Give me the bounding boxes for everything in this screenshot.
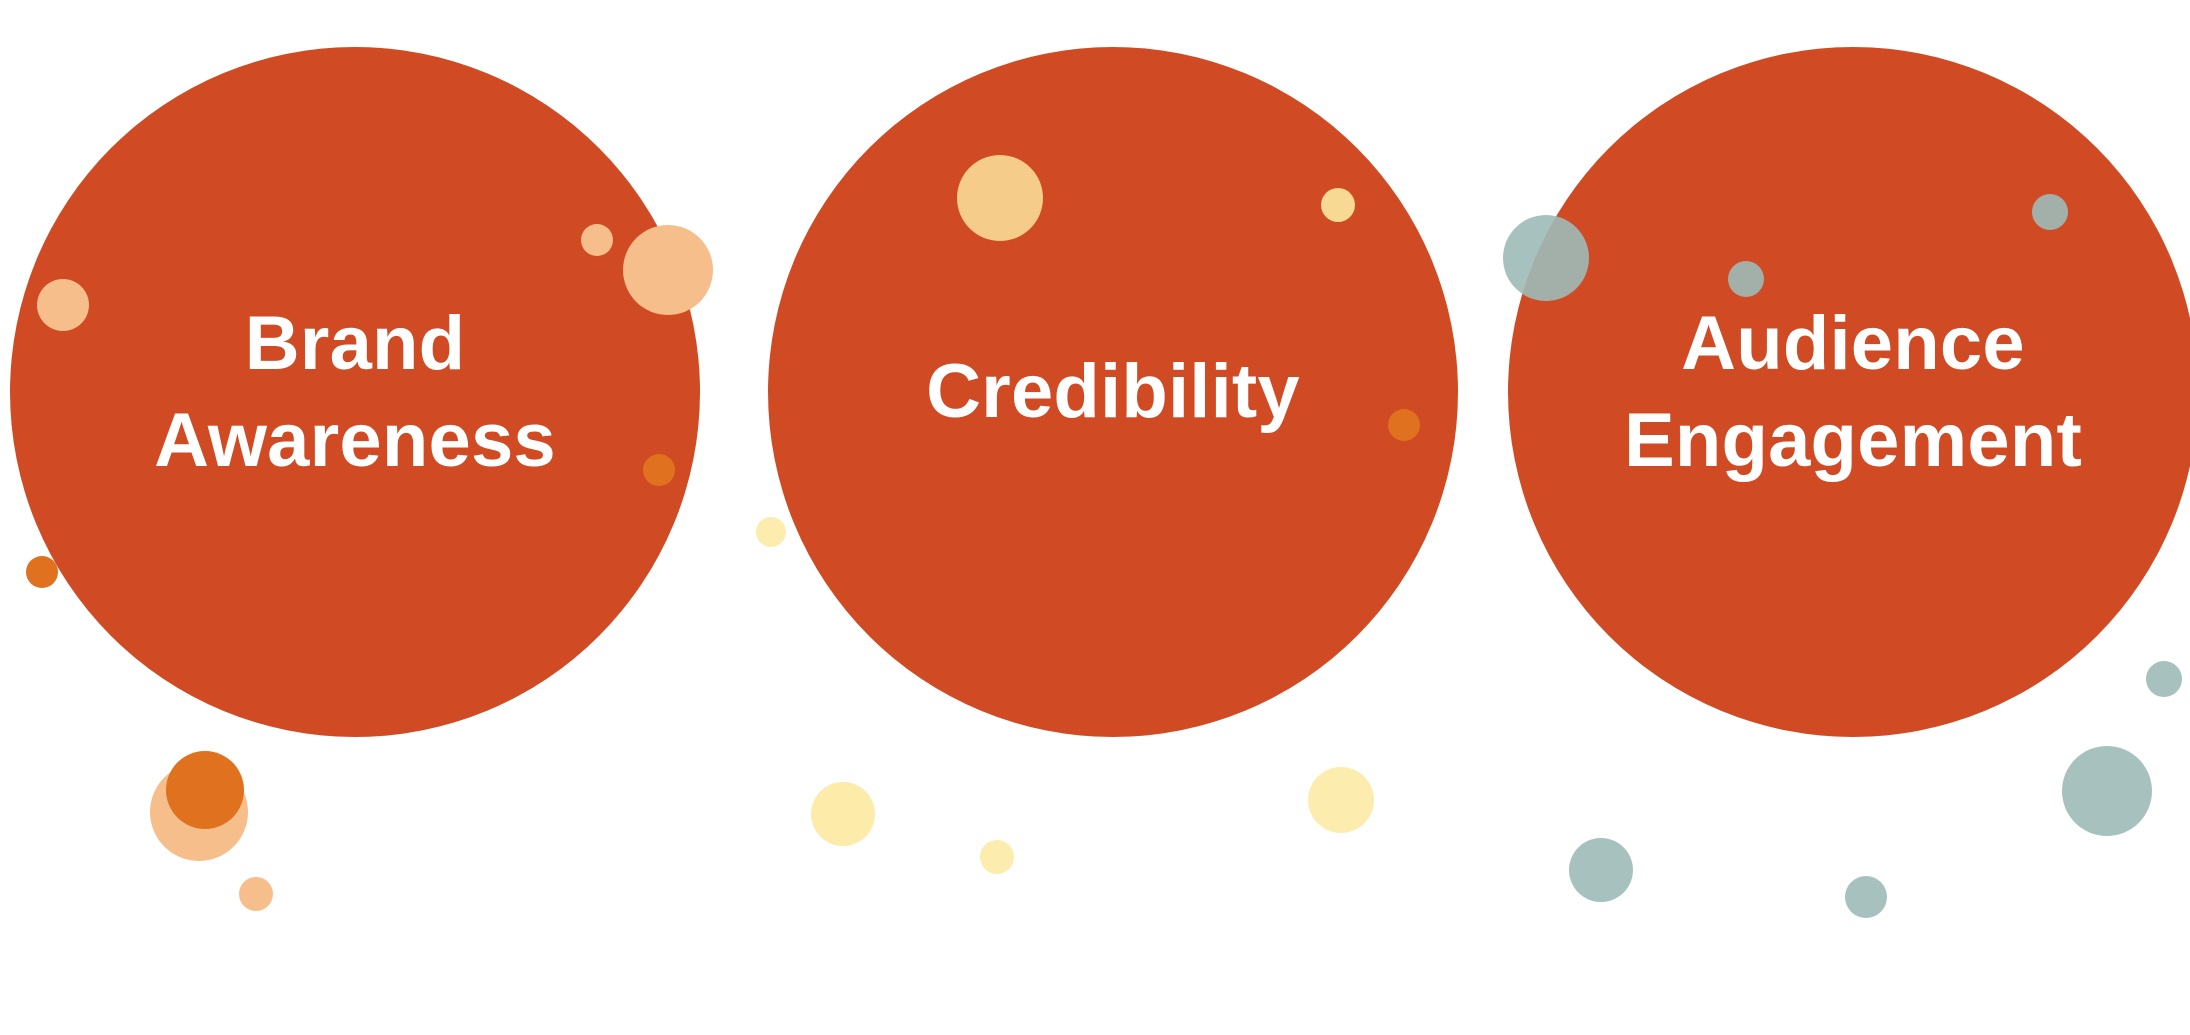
yellow-dot-top-left-icon: [957, 155, 1043, 241]
peach-dot-bottom-icon: [239, 877, 273, 911]
orange-dot-right-edge-icon: [1388, 409, 1420, 441]
peach-dot-large-right-icon: [623, 225, 713, 315]
yellow-dot-left-edge-icon: [756, 517, 786, 547]
orange-dot-lower-left-icon: [166, 751, 244, 829]
yellow-dot-bottom-right-icon: [1308, 767, 1374, 833]
yellow-dot-bottom-mid-icon: [980, 840, 1014, 874]
peach-dot-upper-left-icon: [37, 279, 89, 331]
bubble-brand-awareness[interactable]: Brand Awareness: [10, 47, 700, 737]
teal-dot-top-left-icon: [1503, 215, 1589, 301]
teal-dot-bottom-mid-icon: [1845, 876, 1887, 918]
bubble-label-credibility: Credibility: [898, 343, 1328, 440]
teal-dot-inside-top-icon: [1728, 261, 1764, 297]
bubble-label-brand-awareness: Brand Awareness: [126, 295, 584, 490]
bubble-audience-engagement[interactable]: Audience Engagement: [1508, 47, 2190, 737]
bubble-label-audience-engagement: Audience Engagement: [1596, 295, 2110, 490]
orange-dot-left-edge-icon: [26, 556, 58, 588]
peach-dot-small-right-icon: [581, 224, 613, 256]
yellow-dot-bottom-left-icon: [811, 782, 875, 846]
teal-dot-bottom-left-icon: [1569, 838, 1633, 902]
teal-dot-top-right-icon: [2032, 194, 2068, 230]
orange-dot-right-edge-icon: [643, 454, 675, 486]
teal-dot-bottom-right-icon: [2062, 746, 2152, 836]
yellow-dot-top-right-icon: [1321, 188, 1355, 222]
infographic-canvas: Brand AwarenessCredibilityAudience Engag…: [0, 0, 2190, 1035]
teal-dot-right-small-icon: [2146, 661, 2182, 697]
bubble-credibility[interactable]: Credibility: [768, 47, 1458, 737]
